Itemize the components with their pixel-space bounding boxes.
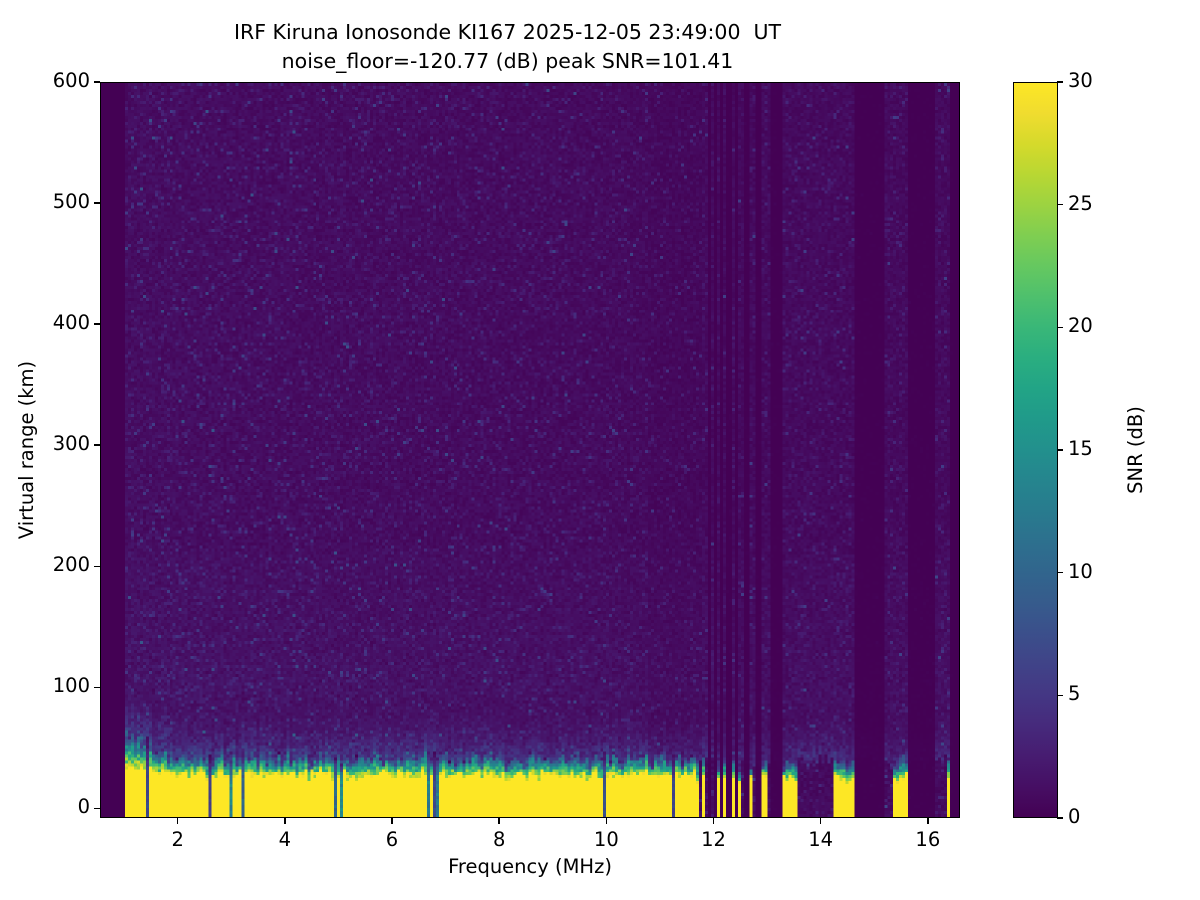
heatmap-canvas xyxy=(101,83,959,817)
x-tick-label: 14 xyxy=(781,828,861,851)
colorbar-label: SNR (dB) xyxy=(1124,170,1152,730)
title-line-1: IRF Kiruna Ionosonde KI167 2025-12-05 23… xyxy=(0,18,1015,47)
x-tick-mark xyxy=(391,818,392,824)
x-tick-mark xyxy=(713,818,714,824)
x-tick-label: 16 xyxy=(888,828,968,851)
x-tick-label: 6 xyxy=(352,828,432,851)
colorbar-tick-mark xyxy=(1057,81,1063,82)
x-tick-mark xyxy=(820,818,821,824)
y-tick-label: 100 xyxy=(53,674,90,697)
x-tick-label: 4 xyxy=(245,828,325,851)
y-axis-label: Virtual range (km) xyxy=(15,82,45,818)
y-tick-label: 200 xyxy=(53,553,90,576)
y-tick-mark xyxy=(94,202,100,203)
y-tick-label: 400 xyxy=(53,311,90,334)
colorbar-tick-label: 15 xyxy=(1068,437,1093,460)
y-tick-mark xyxy=(94,444,100,445)
x-tick-label: 8 xyxy=(459,828,539,851)
figure-title: IRF Kiruna Ionosonde KI167 2025-12-05 23… xyxy=(0,18,1015,76)
y-tick-label: 500 xyxy=(53,190,90,213)
colorbar-tick-label: 0 xyxy=(1068,805,1080,828)
y-tick-label: 0 xyxy=(78,795,90,818)
colorbar-gradient xyxy=(1014,83,1057,817)
x-tick-mark xyxy=(927,818,928,824)
y-tick-mark xyxy=(94,566,100,567)
y-tick-mark xyxy=(94,808,100,809)
colorbar-tick-label: 25 xyxy=(1068,192,1093,215)
ionogram-heatmap xyxy=(101,83,959,817)
colorbar-tick-mark xyxy=(1057,817,1063,818)
y-tick-label: 300 xyxy=(53,432,90,455)
x-tick-label: 10 xyxy=(566,828,646,851)
colorbar-tick-label: 30 xyxy=(1068,69,1093,92)
colorbar-tick-mark xyxy=(1057,204,1063,205)
colorbar-tick-mark xyxy=(1057,327,1063,328)
y-tick-mark xyxy=(94,687,100,688)
title-line-2: noise_floor=-120.77 (dB) peak SNR=101.41 xyxy=(0,47,1015,76)
y-tick-label: 600 xyxy=(53,69,90,92)
colorbar-tick-mark xyxy=(1057,572,1063,573)
y-tick-mark xyxy=(94,323,100,324)
x-tick-mark xyxy=(498,818,499,824)
x-tick-label: 2 xyxy=(138,828,218,851)
colorbar-tick-mark xyxy=(1057,695,1063,696)
plot-area xyxy=(100,82,960,818)
x-tick-label: 12 xyxy=(674,828,754,851)
x-tick-mark xyxy=(606,818,607,824)
x-tick-mark xyxy=(284,818,285,824)
colorbar-tick-mark xyxy=(1057,449,1063,450)
ionogram-figure: IRF Kiruna Ionosonde KI167 2025-12-05 23… xyxy=(0,0,1200,900)
colorbar xyxy=(1013,82,1058,818)
x-tick-mark xyxy=(177,818,178,824)
colorbar-tick-label: 5 xyxy=(1068,682,1080,705)
x-axis-label: Frequency (MHz) xyxy=(100,855,960,878)
colorbar-tick-label: 20 xyxy=(1068,314,1093,337)
y-tick-mark xyxy=(94,81,100,82)
colorbar-tick-label: 10 xyxy=(1068,560,1093,583)
